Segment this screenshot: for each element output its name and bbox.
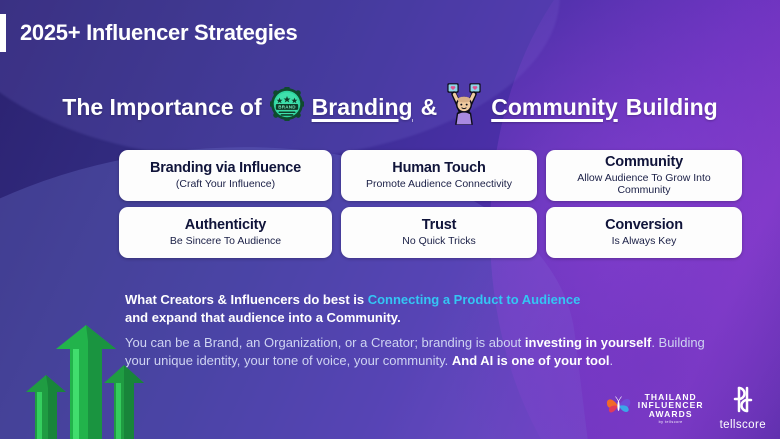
thailand-influencer-awards-logo: THAILAND INFLUENCER AWARDS by tellscore (605, 393, 704, 425)
strategy-card[interactable]: Branding via Influence (Craft Your Influ… (119, 150, 332, 201)
strategy-card[interactable]: Community Allow Audience To Grow Into Co… (546, 150, 742, 201)
butterfly-icon (605, 394, 633, 423)
card-subtitle: No Quick Tricks (402, 235, 476, 247)
three-growth-arrows-icon (0, 289, 170, 439)
headline-part-4: Building (626, 94, 718, 121)
card-title: Human Touch (392, 161, 485, 177)
strategy-card[interactable]: Human Touch Promote Audience Connectivit… (341, 150, 537, 201)
community-people-icon (445, 82, 483, 132)
detail-text-1: You can be a Brand, an Organization, or … (125, 335, 525, 350)
headline-community-word: Community (491, 94, 618, 121)
brand-badge-icon: BRAND (270, 87, 304, 127)
card-subtitle: Is Always Key (612, 235, 677, 247)
footer-logos: THAILAND INFLUENCER AWARDS by tellscore … (605, 386, 766, 431)
tellscore-wordmark: tellscore (720, 419, 766, 431)
tia-line-3: AWARDS (638, 410, 704, 419)
card-title: Conversion (605, 218, 683, 234)
strategy-card[interactable]: Conversion Is Always Key (546, 207, 742, 258)
tellscore-logo: tellscore (720, 386, 766, 431)
summary-paragraph-bold: What Creators & Influencers do best is C… (125, 291, 725, 326)
tia-wordmark: THAILAND INFLUENCER AWARDS by tellscore (638, 393, 704, 425)
card-title: Branding via Influence (150, 161, 301, 177)
card-subtitle: Be Sincere To Audience (170, 235, 281, 247)
card-subtitle: Allow Audience To Grow Into Community (552, 172, 736, 196)
tia-byline: by tellscore (638, 421, 704, 425)
headline: The Importance of BRAND (0, 82, 780, 132)
detail-text-bold-2: And AI is one of your tool (452, 353, 610, 368)
card-title: Community (605, 155, 683, 171)
slide-header: 2025+ Influencer Strategies (0, 14, 297, 52)
strategy-card-grid: Branding via Influence (Craft Your Influ… (119, 150, 741, 258)
card-subtitle: (Craft Your Influence) (176, 178, 275, 190)
header-accent-bar (0, 14, 6, 52)
card-title: Authenticity (185, 218, 266, 234)
strategy-card[interactable]: Authenticity Be Sincere To Audience (119, 207, 332, 258)
card-subtitle: Promote Audience Connectivity (366, 178, 512, 190)
card-title: Trust (422, 218, 456, 234)
headline-branding-word: Branding (312, 94, 413, 121)
headline-part-1: The Importance of (62, 94, 261, 121)
summary-text-highlight: Connecting a Product to Audience (368, 292, 581, 307)
summary-paragraph-light: You can be a Brand, an Organization, or … (125, 334, 715, 371)
page-title: 2025+ Influencer Strategies (20, 20, 297, 46)
detail-text-bold-1: investing in yourself (525, 335, 651, 350)
headline-ampersand: & (421, 94, 438, 121)
tellscore-mark-icon (729, 386, 757, 418)
svg-text:BRAND: BRAND (278, 105, 296, 110)
detail-text-3: . (610, 353, 614, 368)
slide-canvas: 2025+ Influencer Strategies The Importan… (0, 0, 780, 439)
strategy-card[interactable]: Trust No Quick Tricks (341, 207, 537, 258)
